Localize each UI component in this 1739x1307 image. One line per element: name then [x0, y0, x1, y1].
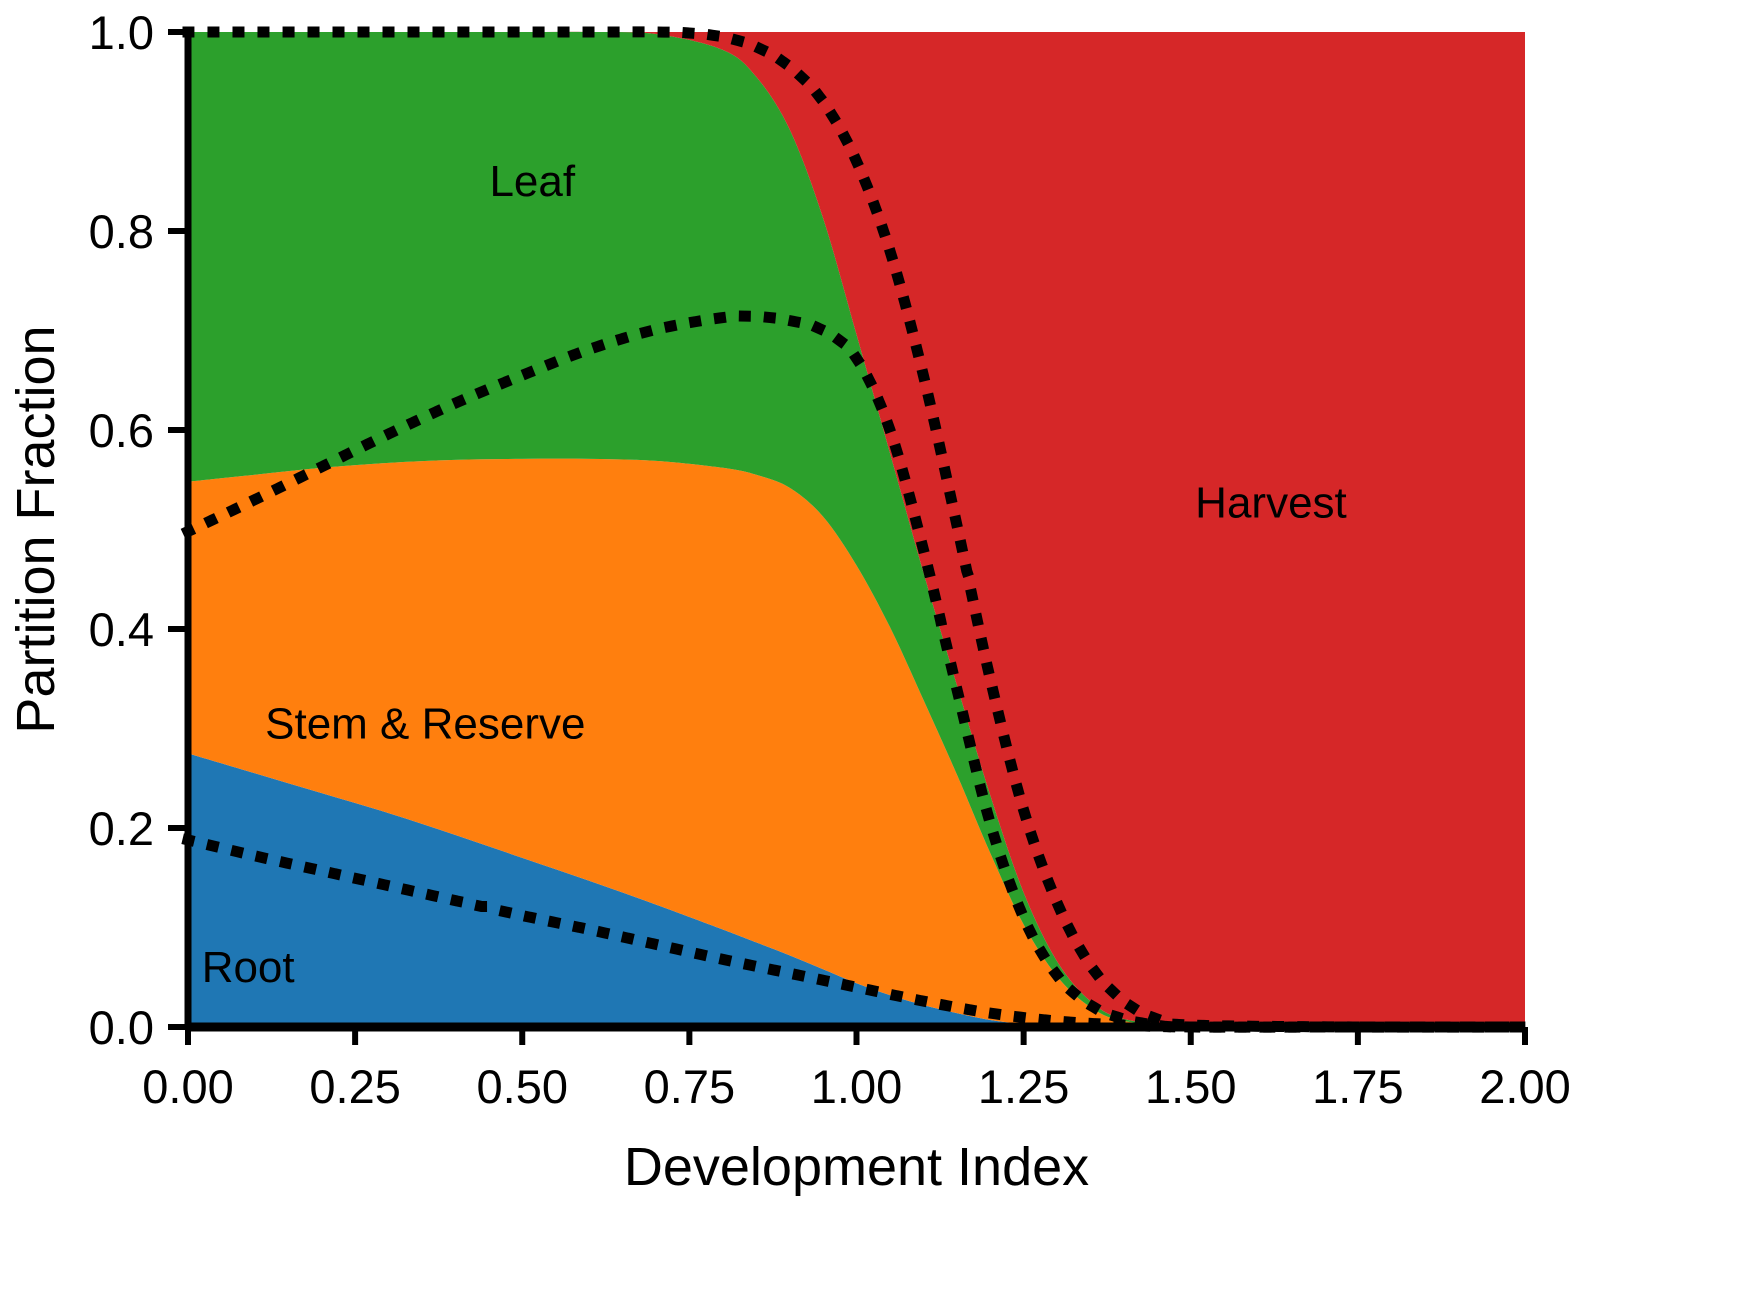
x-tick-label: 1.25 — [978, 1060, 1069, 1113]
x-axis: 0.000.250.500.751.001.251.501.752.00 — [142, 1027, 1570, 1113]
y-tick-label: 0.8 — [89, 205, 154, 258]
area-label-stem-reserve: Stem & Reserve — [265, 699, 585, 748]
y-tick-label: 0.6 — [89, 404, 154, 457]
partition-fraction-area-chart: 0.000.250.500.751.001.251.501.752.00 0.0… — [0, 0, 1739, 1307]
x-tick-label: 0.50 — [477, 1060, 568, 1113]
y-tick-label: 0.0 — [89, 1001, 154, 1054]
x-tick-label: 1.50 — [1145, 1060, 1236, 1113]
x-tick-label: 1.75 — [1312, 1060, 1403, 1113]
chart-figure: 0.000.250.500.751.001.251.501.752.00 0.0… — [0, 0, 1739, 1307]
x-tick-label: 0.00 — [142, 1060, 233, 1113]
y-tick-label: 1.0 — [89, 6, 154, 59]
x-tick-label: 2.00 — [1479, 1060, 1570, 1113]
y-tick-label: 0.2 — [89, 802, 154, 855]
x-axis-title: Development Index — [624, 1137, 1089, 1197]
y-axis-title: Partition Fraction — [6, 325, 66, 733]
x-tick-label: 0.75 — [644, 1060, 735, 1113]
plot-areas — [188, 32, 1525, 1028]
x-tick-label: 1.00 — [811, 1060, 902, 1113]
x-tick-label: 0.25 — [309, 1060, 400, 1113]
y-tick-label: 0.4 — [89, 603, 154, 656]
area-label-leaf: Leaf — [489, 157, 575, 206]
area-label-harvest: Harvest — [1195, 479, 1347, 528]
area-label-root: Root — [202, 943, 295, 992]
